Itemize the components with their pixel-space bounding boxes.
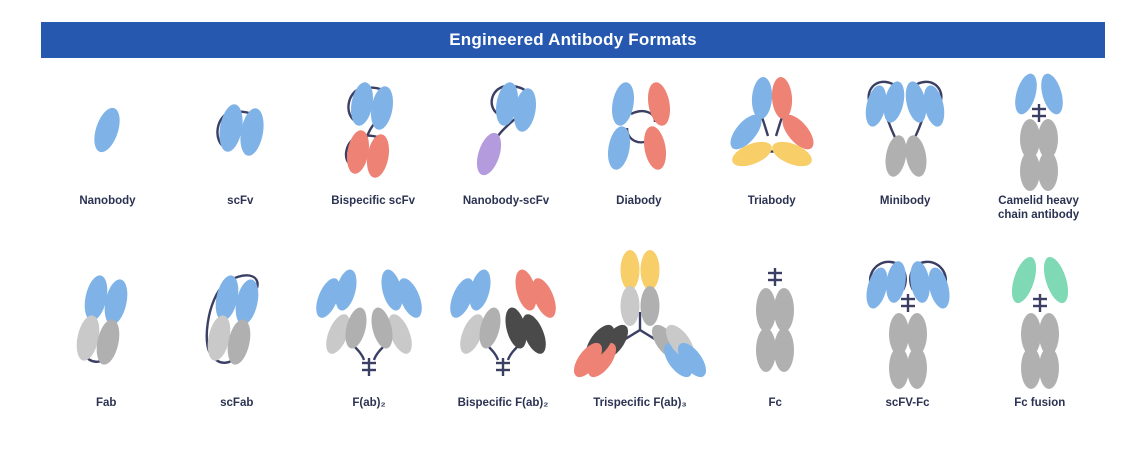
format-label: Minibody (880, 194, 930, 208)
triabody-diagram (710, 70, 834, 188)
format-label: Fc fusion (1014, 396, 1065, 410)
format-label: scFv (227, 194, 253, 208)
format-label: F(ab)₂ (352, 396, 385, 410)
fc-diagram (715, 250, 835, 390)
format-f-ab-2[interactable]: F(ab)₂ (302, 250, 436, 435)
format-row-2: Fab scFab (41, 250, 1105, 435)
format-label: Fc (769, 396, 782, 410)
format-bispecific-scfv[interactable]: Bispecific scFv (307, 70, 440, 230)
format-scfv-fc[interactable]: scFV-Fc (841, 250, 975, 435)
format-nanobody-scfv[interactable]: Nanobody-scFv (440, 70, 573, 230)
nanobody-diagram (47, 70, 167, 188)
bispecific-scfv-diagram (313, 70, 433, 188)
format-diabody[interactable]: Diabody (572, 70, 705, 230)
format-scfab[interactable]: scFab (172, 250, 303, 435)
format-nanobody[interactable]: Nanobody (41, 70, 174, 230)
scfv-fc-diagram (841, 250, 975, 390)
minibody-diagram (838, 70, 972, 188)
format-fc[interactable]: Fc (710, 250, 841, 435)
format-trispecific-f-ab-3[interactable]: Trispecific F(ab)₃ (570, 250, 710, 435)
format-bispecific-f-ab-2[interactable]: Bispecific F(ab)₂ (436, 250, 570, 435)
format-label: Nanobody (79, 194, 135, 208)
format-minibody[interactable]: Minibody (838, 70, 972, 230)
trispecific-f-ab-3-diagram (570, 250, 710, 390)
scfv-diagram (180, 70, 300, 188)
format-label: scFV-Fc (885, 396, 929, 410)
format-label: scFab (220, 396, 253, 410)
scfab-diagram (177, 250, 297, 390)
fab-diagram (46, 250, 166, 390)
nanobody-scfv-diagram (446, 70, 566, 188)
format-camelid-heavy-chain-antibody[interactable]: Camelid heavy chain antibody (972, 70, 1105, 230)
camelid-heavy-chain-antibody-diagram (979, 70, 1099, 188)
format-label: Triabody (748, 194, 796, 208)
bispecific-f-ab-2-diagram (436, 250, 570, 390)
format-label: Camelid heavy chain antibody (998, 194, 1079, 223)
f-ab-2-diagram (302, 250, 436, 390)
format-label: Diabody (616, 194, 661, 208)
antibody-formats-figure: Engineered Antibody Formats Nanobody scF… (0, 0, 1147, 456)
format-scfv[interactable]: scFv (174, 70, 307, 230)
format-fc-fusion[interactable]: Fc fusion (975, 250, 1106, 435)
page-title: Engineered Antibody Formats (449, 30, 697, 50)
diabody-diagram (579, 70, 699, 188)
format-label: Nanobody-scFv (463, 194, 549, 208)
format-row-1: Nanobody scFv (41, 70, 1105, 230)
fc-fusion-diagram (980, 250, 1100, 390)
format-label: Bispecific scFv (331, 194, 415, 208)
format-label: Bispecific F(ab)₂ (458, 396, 549, 410)
format-label: Trispecific F(ab)₃ (593, 396, 687, 410)
figure-title-bar: Engineered Antibody Formats (41, 22, 1105, 58)
format-triabody[interactable]: Triabody (705, 70, 838, 230)
format-fab[interactable]: Fab (41, 250, 172, 435)
format-label: Fab (96, 396, 116, 410)
